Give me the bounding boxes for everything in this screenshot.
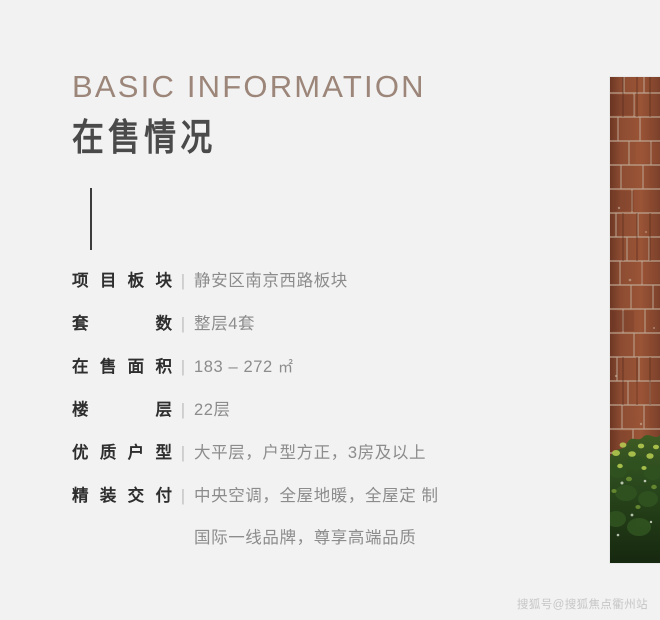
- title-accent-rule: [90, 188, 92, 250]
- row-label: 在售面积: [72, 354, 172, 380]
- row-value-text: 183 – 272: [194, 358, 273, 376]
- row-value: 22层: [194, 397, 542, 423]
- row-label: 楼层: [72, 397, 172, 423]
- heading-block: BASIC INFORMATION 在售情况: [72, 70, 552, 159]
- brick-wall-photo: [610, 77, 660, 563]
- page-root: BASIC INFORMATION 在售情况 项目板块 | 静安区南京西路板块 …: [0, 0, 660, 620]
- row-separator: |: [172, 268, 194, 294]
- row-value: 183 – 272 ㎡: [194, 354, 542, 381]
- row-value-line-2: 国际一线品牌，尊享高端品质: [194, 525, 542, 551]
- row-label: 项目板块: [72, 268, 172, 294]
- foliage-illustration: [610, 423, 660, 563]
- row-separator: |: [172, 354, 194, 380]
- row-label: 精装交付: [72, 483, 172, 509]
- table-row: 套数 | 整层4套: [72, 311, 542, 354]
- section-eyebrow-title: BASIC INFORMATION: [72, 70, 552, 104]
- row-separator: |: [172, 483, 194, 509]
- row-label: 优质户型: [72, 440, 172, 466]
- table-row: 楼层 | 22层: [72, 397, 542, 440]
- area-unit-label: ㎡: [278, 359, 293, 376]
- basic-information-table: 项目板块 | 静安区南京西路板块 套数 | 整层4套 在售面积 | 183 – …: [72, 268, 542, 551]
- row-value: 大平层，户型方正，3房及以上: [194, 440, 542, 466]
- table-row: 项目板块 | 静安区南京西路板块: [72, 268, 542, 311]
- row-value: 整层4套: [194, 311, 542, 337]
- row-separator: |: [172, 397, 194, 423]
- row-value: 中央空调，全屋地暖，全屋定 制 国际一线品牌，尊享高端品质: [194, 483, 542, 551]
- row-value-line-1: 中央空调，全屋地暖，全屋定 制: [194, 483, 542, 509]
- row-value: 静安区南京西路板块: [194, 268, 542, 294]
- watermark-text: 搜狐号@搜狐焦点衢州站: [517, 596, 648, 612]
- table-row: 在售面积 | 183 – 272 ㎡: [72, 354, 542, 397]
- table-row: 优质户型 | 大平层，户型方正，3房及以上: [72, 440, 542, 483]
- row-separator: |: [172, 440, 194, 466]
- section-title-cn: 在售情况: [72, 118, 485, 159]
- row-label: 套数: [72, 311, 172, 337]
- row-separator: |: [172, 311, 194, 337]
- table-row: 精装交付 | 中央空调，全屋地暖，全屋定 制 国际一线品牌，尊享高端品质: [72, 483, 542, 551]
